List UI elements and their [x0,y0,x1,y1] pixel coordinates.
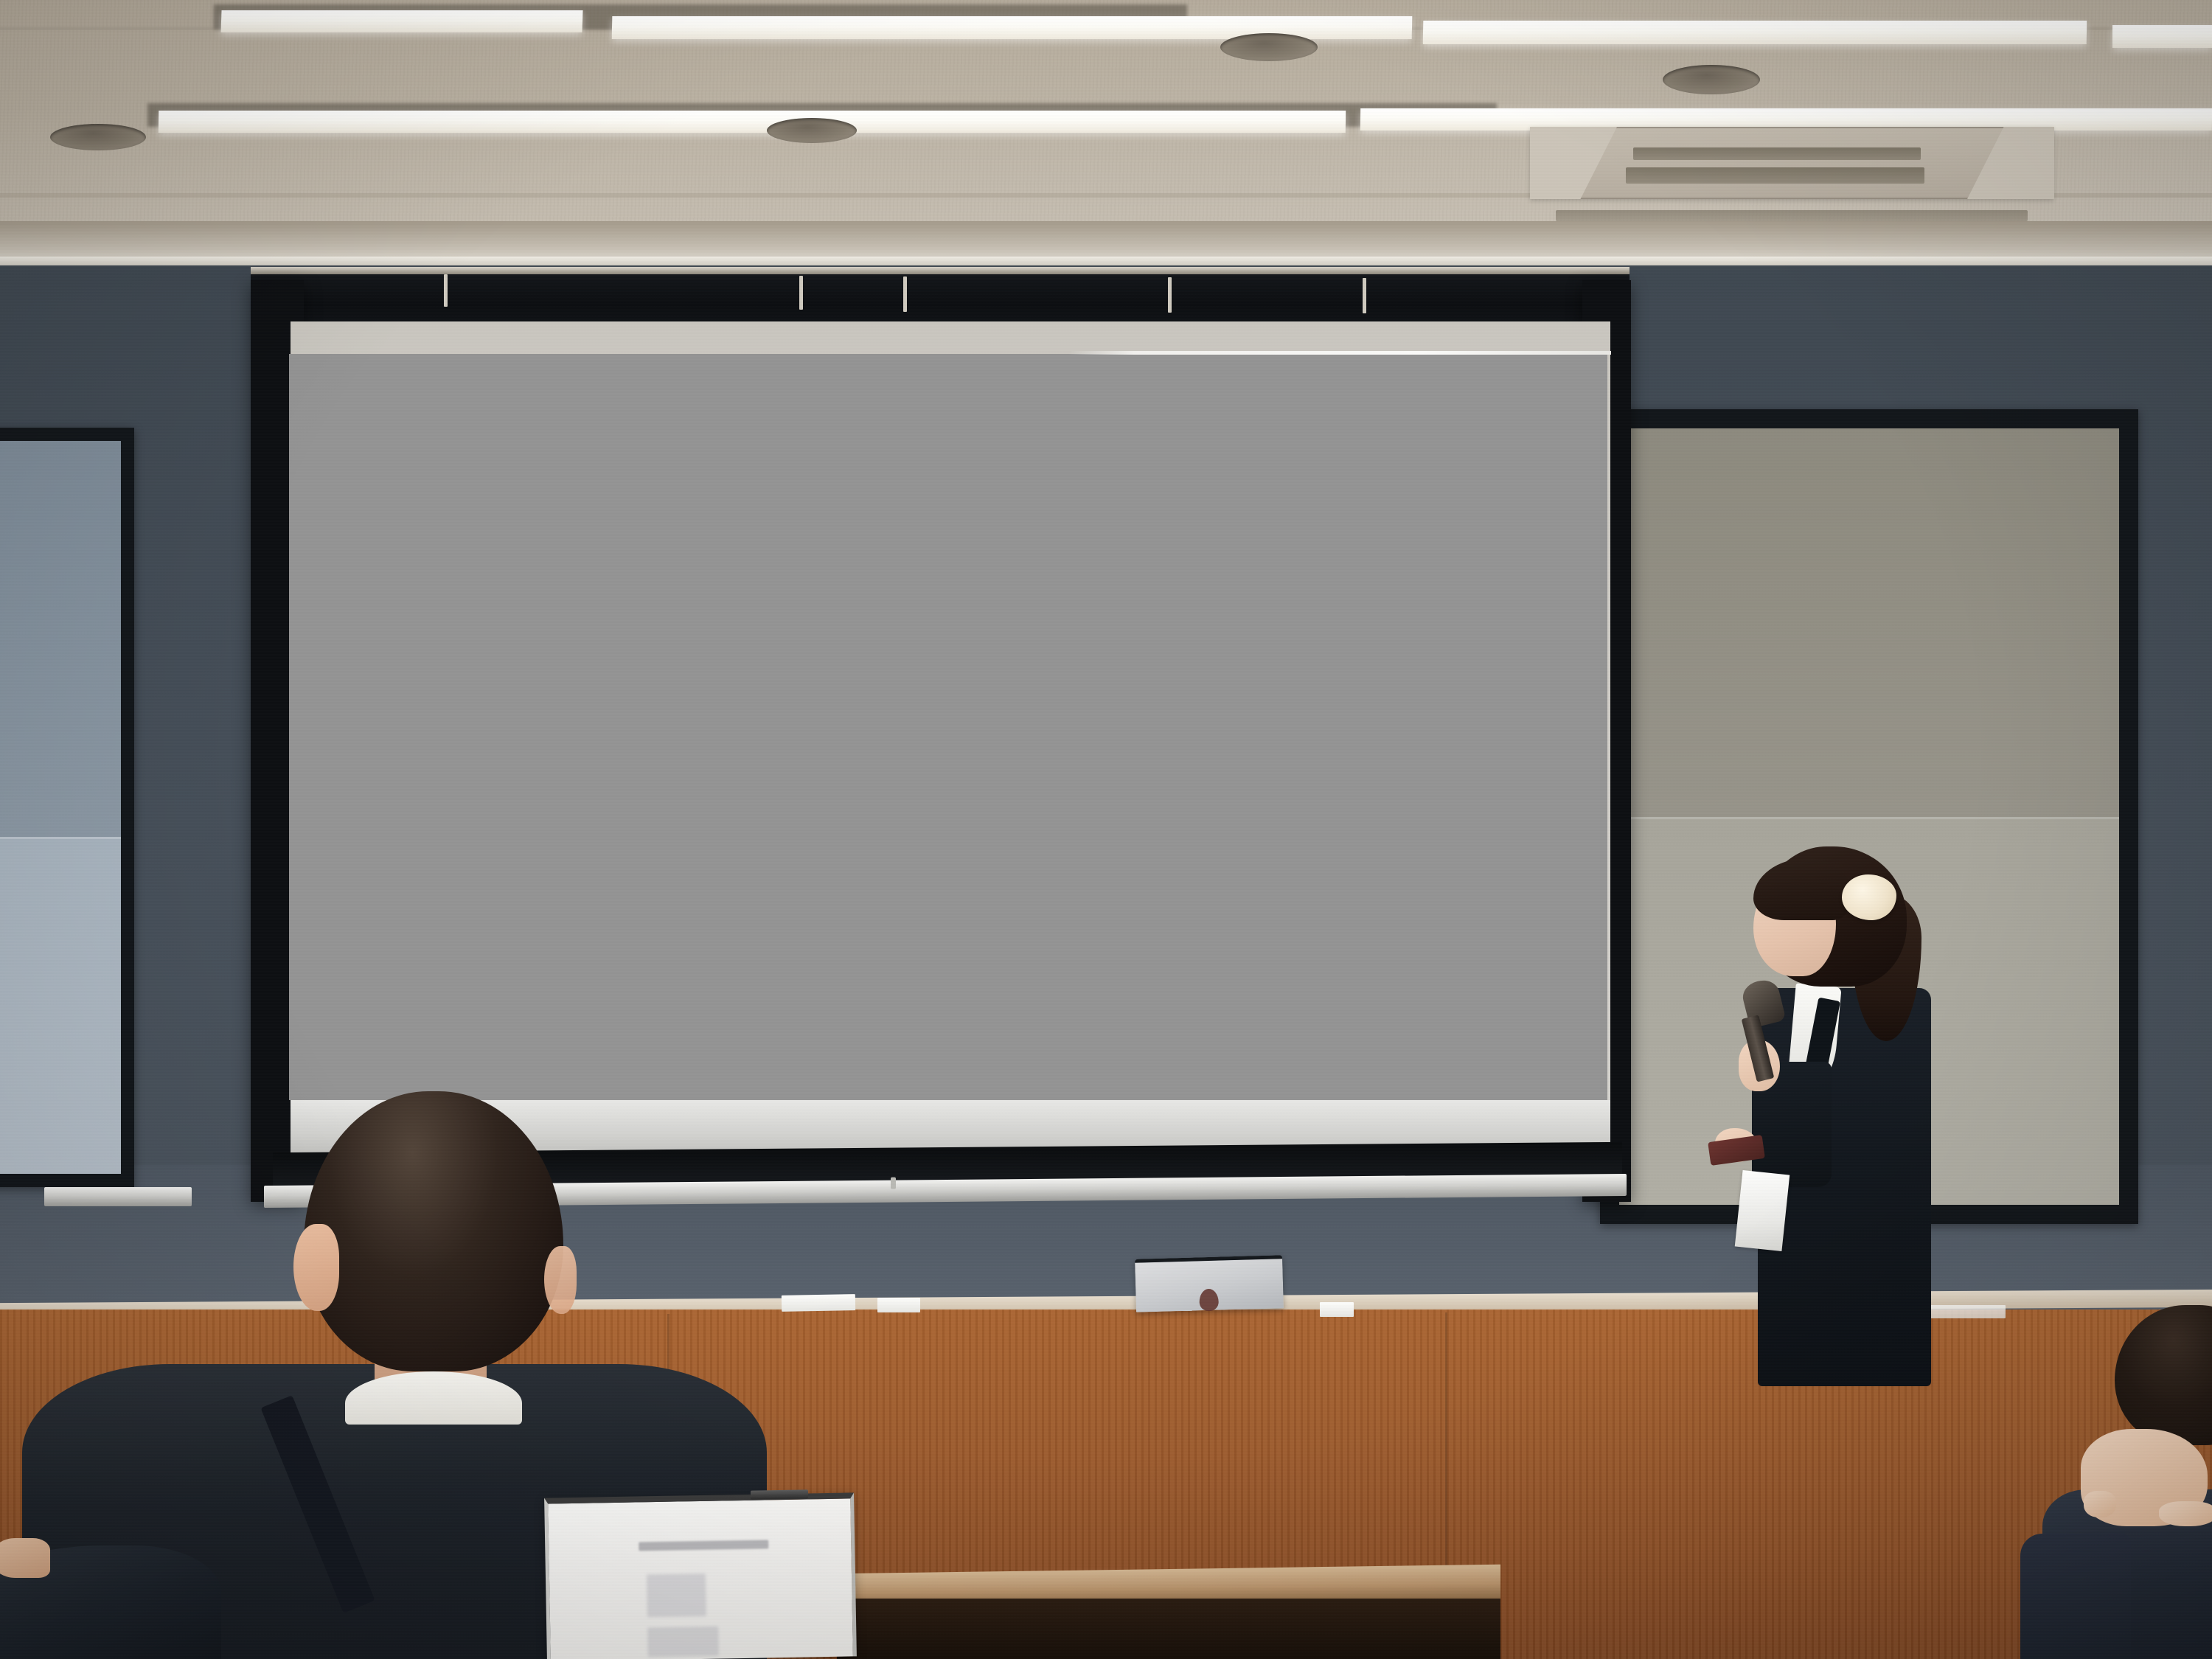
lecture-hall-photo [0,0,2212,1659]
ac-vent-louver [1556,210,2028,221]
ceiling-downlight-icon [767,118,857,143]
presenter-bangs [1753,858,1851,920]
left-whiteboard-surface [0,441,121,1174]
screen-hook-icon [903,276,907,312]
attendee-right-hair [2115,1305,2212,1445]
screen-weight-bar-left-cap [44,1187,192,1206]
ceiling [0,0,2212,288]
attendee-right-finger [2084,1491,2116,1517]
seated-attendee-right [2035,1320,2212,1659]
ceiling-downlight-icon [50,124,146,150]
presenter-hair-accessory [1842,874,1896,920]
desk-paper-item [877,1298,920,1312]
projection-surface [289,354,1607,1100]
attendee-left-skin [0,1538,50,1578]
attendee-right-sleeve [2020,1534,2131,1659]
left-whiteboard-seam [0,837,121,839]
right-whiteboard-seam [1619,817,2119,819]
screen-hook-icon [444,274,448,307]
screen-hook-icon [1168,277,1172,313]
laptop-doc-text-block [647,1627,719,1658]
attendee-front-ear-left [293,1224,339,1311]
left-whiteboard-upper-half [0,441,121,837]
presenter-paper-notes [1735,1170,1790,1251]
screen-hook-icon [799,276,803,310]
attendee-laptop [544,1492,857,1659]
laptop-doc-text-line [639,1540,768,1551]
ac-vent-louver [1626,167,1924,184]
right-whiteboard-upper-half [1619,428,2119,817]
left-whiteboard-panel [0,428,134,1187]
ceiling-strip-light [1423,21,2087,44]
attendee-right-finger [2159,1501,2212,1526]
apple-logo-icon [1199,1289,1219,1312]
attendee-front-ear-right [544,1246,577,1314]
ceiling-strip-light [2112,25,2212,48]
desk-paper-item [1320,1302,1354,1317]
presenter [1718,841,2028,1386]
screen-weight-nub [891,1178,896,1189]
ceiling-strip-light [220,10,582,32]
desk-under-shadow [837,1599,1500,1659]
ac-vent-louver [1633,147,1921,160]
ceiling-strip-light [159,111,1346,133]
screen-top-highlight [1069,351,1611,355]
screen-mount-rail [251,267,1630,274]
ceiling-soffit [0,221,2212,261]
macbook-laptop [1135,1255,1284,1312]
screen-hook-icon [1363,278,1366,313]
attendee-front-head [304,1091,563,1371]
laptop-hinge [751,1489,808,1499]
left-whiteboard-lower-half [0,837,121,1174]
ceiling-downlight-icon [1663,65,1760,94]
laptop-doc-text-block [647,1573,706,1617]
ceiling-downlight-icon [1220,33,1318,61]
